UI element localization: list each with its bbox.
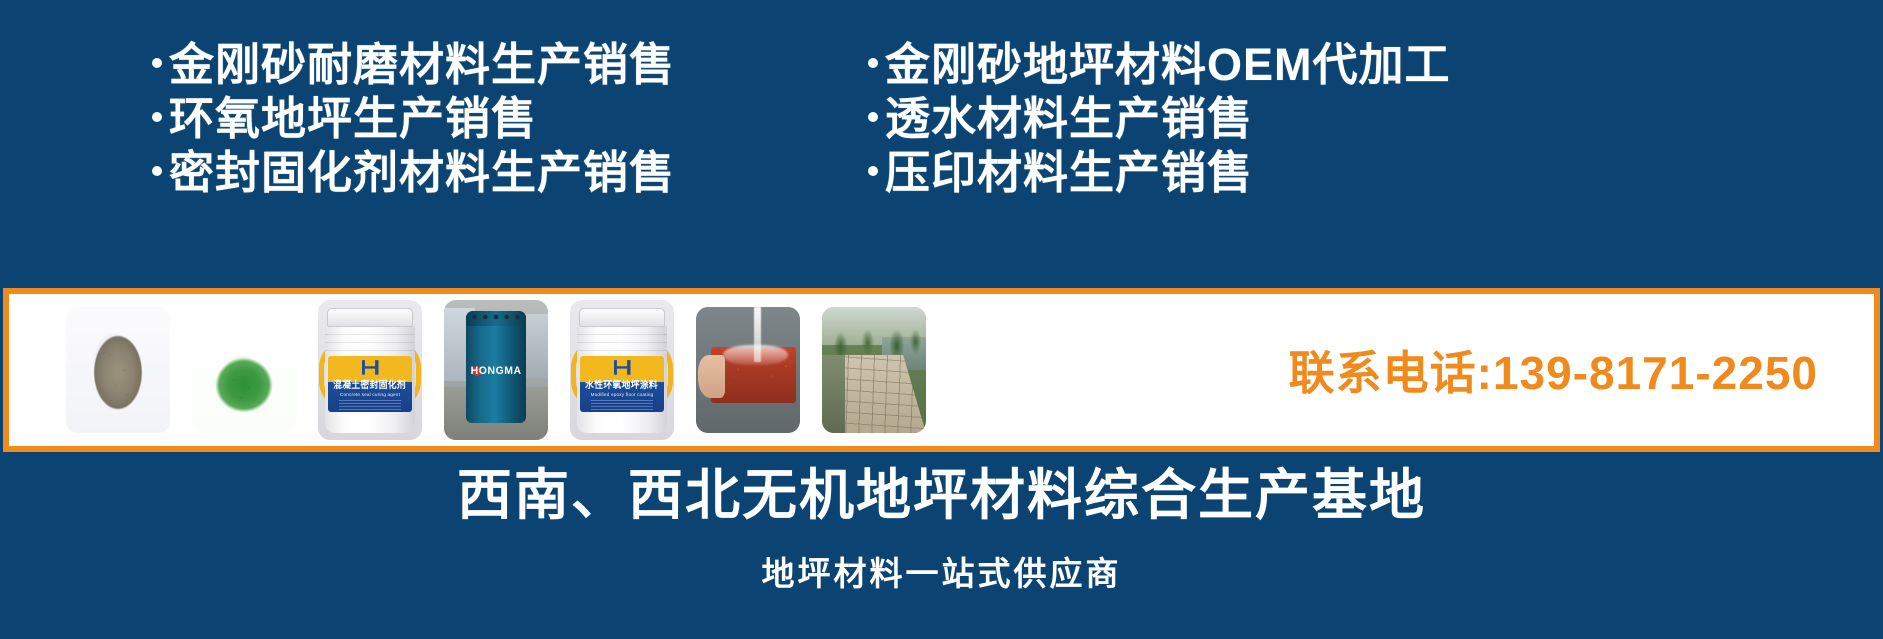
feature-label: 环氧地坪生产销售 bbox=[169, 92, 537, 146]
feature-label: 金刚砂地坪材料OEM代加工 bbox=[885, 38, 1451, 92]
promo-banner: 金刚砂耐磨材料生产销售 环氧地坪生产销售 密封固化剂材料生产销售 金刚砂地坪材料… bbox=[0, 0, 1883, 639]
hand-icon bbox=[698, 355, 725, 398]
pail-label: 水性环氧地坪涂料 Modified epoxy floor coating bbox=[580, 356, 663, 412]
feature-column-left: 金刚砂耐磨材料生产销售 环氧地坪生产销售 密封固化剂材料生产销售 bbox=[152, 38, 852, 200]
product-thumbnail-strip: 混凝土密封固化剂 Concrete seal curing agent HONG… bbox=[66, 300, 926, 440]
product-thumb-epoxy-floor-coating-pail: 水性环氧地坪涂料 Modified epoxy floor coating bbox=[570, 300, 674, 440]
feature-item: 压印材料生产销售 bbox=[868, 146, 1451, 200]
pail-label-en: Concrete seal curing agent bbox=[340, 392, 400, 397]
product-thumb-red-permeable-concrete bbox=[696, 307, 800, 433]
feature-label: 压印材料生产销售 bbox=[885, 146, 1253, 200]
drum-body: HONGMA bbox=[466, 311, 526, 423]
bullet-dot-icon bbox=[152, 58, 162, 68]
pail-lid bbox=[327, 308, 412, 326]
product-thumb-green-aggregate-powder bbox=[192, 307, 296, 433]
bullet-dot-icon bbox=[152, 112, 162, 122]
pail-lid bbox=[579, 308, 664, 326]
pail-label-cn: 混凝土密封固化剂 bbox=[334, 377, 407, 391]
feature-item: 密封固化剂材料生产销售 bbox=[152, 146, 852, 200]
water-stream-icon bbox=[754, 307, 761, 362]
brand-mark-icon bbox=[362, 360, 379, 375]
bullet-dot-icon bbox=[868, 58, 878, 68]
product-thumb-stamped-paving-path bbox=[822, 307, 926, 433]
feature-label: 金刚砂耐磨材料生产销售 bbox=[169, 38, 675, 92]
product-thumb-concrete-sealer-pail: 混凝土密封固化剂 Concrete seal curing agent bbox=[318, 300, 422, 440]
bullet-dot-icon bbox=[868, 166, 878, 176]
pail-label-fineprint bbox=[591, 400, 653, 412]
product-thumb-gray-aggregate-powder bbox=[66, 307, 170, 433]
feature-lists: 金刚砂耐磨材料生产销售 环氧地坪生产销售 密封固化剂材料生产销售 金刚砂地坪材料… bbox=[0, 38, 1883, 238]
contact-phone[interactable]: 联系电话:139-8171-2250 bbox=[1289, 337, 1818, 403]
feature-item: 环氧地坪生产销售 bbox=[152, 92, 852, 146]
pail-label-cn: 水性环氧地坪涂料 bbox=[586, 377, 659, 391]
pail-label-en: Modified epoxy floor coating bbox=[591, 392, 654, 397]
brand-mark-icon bbox=[614, 360, 631, 375]
bullet-dot-icon bbox=[152, 166, 162, 176]
product-panel: 混凝土密封固化剂 Concrete seal curing agent HONG… bbox=[3, 288, 1880, 452]
footer-headline: 西南、西北无机地坪材料综合生产基地 bbox=[0, 462, 1883, 528]
drum-bolts-icon bbox=[469, 313, 522, 321]
feature-item: 透水材料生产销售 bbox=[868, 92, 1451, 146]
footer-subline: 地坪材料一站式供应商 bbox=[0, 552, 1883, 596]
feature-label: 透水材料生产销售 bbox=[885, 92, 1253, 146]
feature-item: 金刚砂地坪材料OEM代加工 bbox=[868, 38, 1451, 92]
feature-label: 密封固化剂材料生产销售 bbox=[169, 146, 675, 200]
product-thumb-hongma-blue-drum: HONGMA bbox=[444, 300, 548, 440]
drum-brand-text: HONGMA bbox=[467, 365, 524, 377]
feature-item: 金刚砂耐磨材料生产销售 bbox=[152, 38, 852, 92]
pail-label-fineprint bbox=[339, 400, 401, 412]
bullet-dot-icon bbox=[868, 112, 878, 122]
feature-column-right: 金刚砂地坪材料OEM代加工 透水材料生产销售 压印材料生产销售 bbox=[868, 38, 1451, 200]
pail-label: 混凝土密封固化剂 Concrete seal curing agent bbox=[328, 356, 411, 412]
